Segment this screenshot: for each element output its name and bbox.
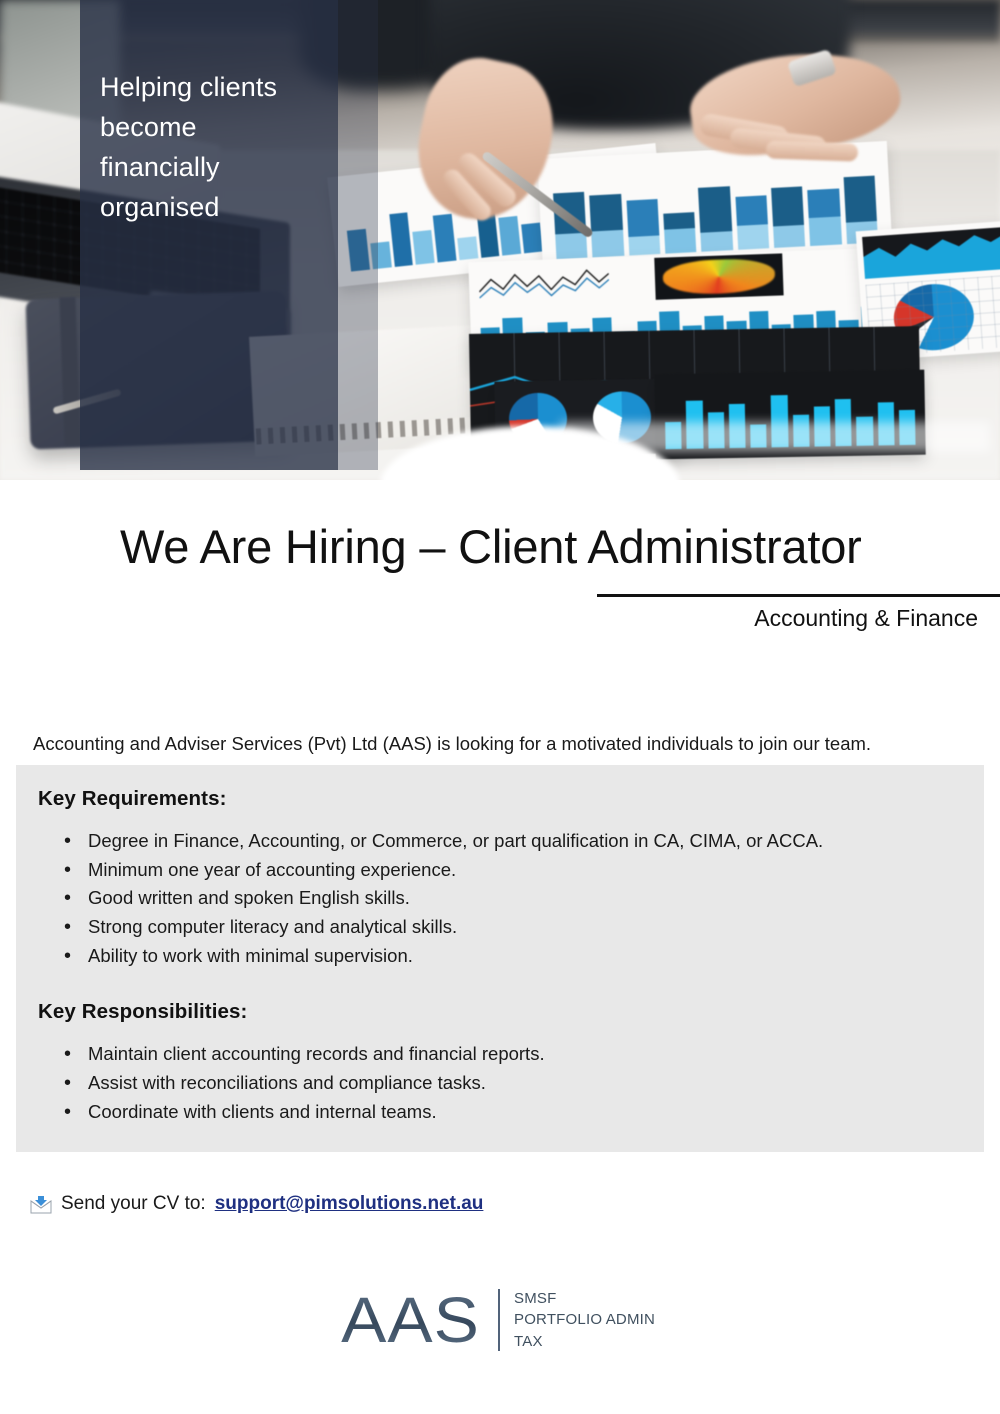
logo-service-line-2: PORTFOLIO ADMIN	[514, 1309, 655, 1330]
requirements-list: Degree in Finance, Accounting, or Commer…	[38, 827, 954, 970]
responsibilities-list: Maintain client accounting records and f…	[38, 1040, 954, 1126]
list-item: Maintain client accounting records and f…	[86, 1040, 954, 1069]
logo-wordmark: AAS	[341, 1288, 480, 1352]
contact-label: Send your CV to:	[61, 1193, 206, 1215]
title-block: We Are Hiring – Client Administrator Acc…	[0, 480, 1000, 571]
hero-tagline-line-4: organised	[100, 188, 350, 228]
list-item: Assist with reconciliations and complian…	[86, 1069, 954, 1098]
list-item: Coordinate with clients and internal tea…	[86, 1098, 954, 1127]
page-title: We Are Hiring – Client Administrator	[0, 480, 1000, 571]
responsibilities-heading: Key Responsibilities:	[38, 1000, 954, 1024]
photo-light-wisp-secondary	[560, 422, 990, 452]
hero-tagline-line-1: Helping clients	[100, 68, 350, 108]
area-chart-panel	[862, 225, 1000, 279]
company-logo: AAS SMSF PORTFOLIO ADMIN TAX	[0, 1288, 1000, 1352]
list-item: Strong computer literacy and analytical …	[86, 913, 954, 942]
logo-divider	[498, 1289, 500, 1351]
requirements-heading: Key Requirements:	[38, 787, 954, 811]
list-item: Ability to work with minimal supervision…	[86, 942, 954, 971]
details-panel: Key Requirements: Degree in Finance, Acc…	[16, 765, 984, 1152]
heatmap-panel	[654, 253, 783, 299]
logo-service-line-3: TAX	[514, 1331, 655, 1352]
job-category: Accounting & Finance	[754, 605, 978, 632]
email-link[interactable]: support@pimsolutions.net.au	[215, 1193, 484, 1215]
hero-tagline-line-3: financially	[100, 148, 350, 188]
contact-line: Send your CV to: support@pimsolutions.ne…	[30, 1193, 483, 1215]
list-item: Good written and spoken English skills.	[86, 884, 954, 913]
hero-banner: Helping clients become financially organ…	[0, 0, 1000, 480]
hero-tagline: Helping clients become financially organ…	[100, 68, 350, 228]
list-item: Degree in Finance, Accounting, or Commer…	[86, 827, 954, 856]
incoming-envelope-icon	[30, 1195, 52, 1214]
list-item: Minimum one year of accounting experienc…	[86, 856, 954, 885]
title-divider	[597, 594, 1000, 597]
logo-services: SMSF PORTFOLIO ADMIN TAX	[514, 1288, 655, 1352]
intro-paragraph: Accounting and Adviser Services (Pvt) Lt…	[33, 731, 973, 758]
hero-tagline-line-2: become	[100, 108, 350, 148]
line-chart-icon	[478, 261, 609, 306]
finger	[766, 140, 859, 161]
logo-service-line-1: SMSF	[514, 1288, 655, 1309]
